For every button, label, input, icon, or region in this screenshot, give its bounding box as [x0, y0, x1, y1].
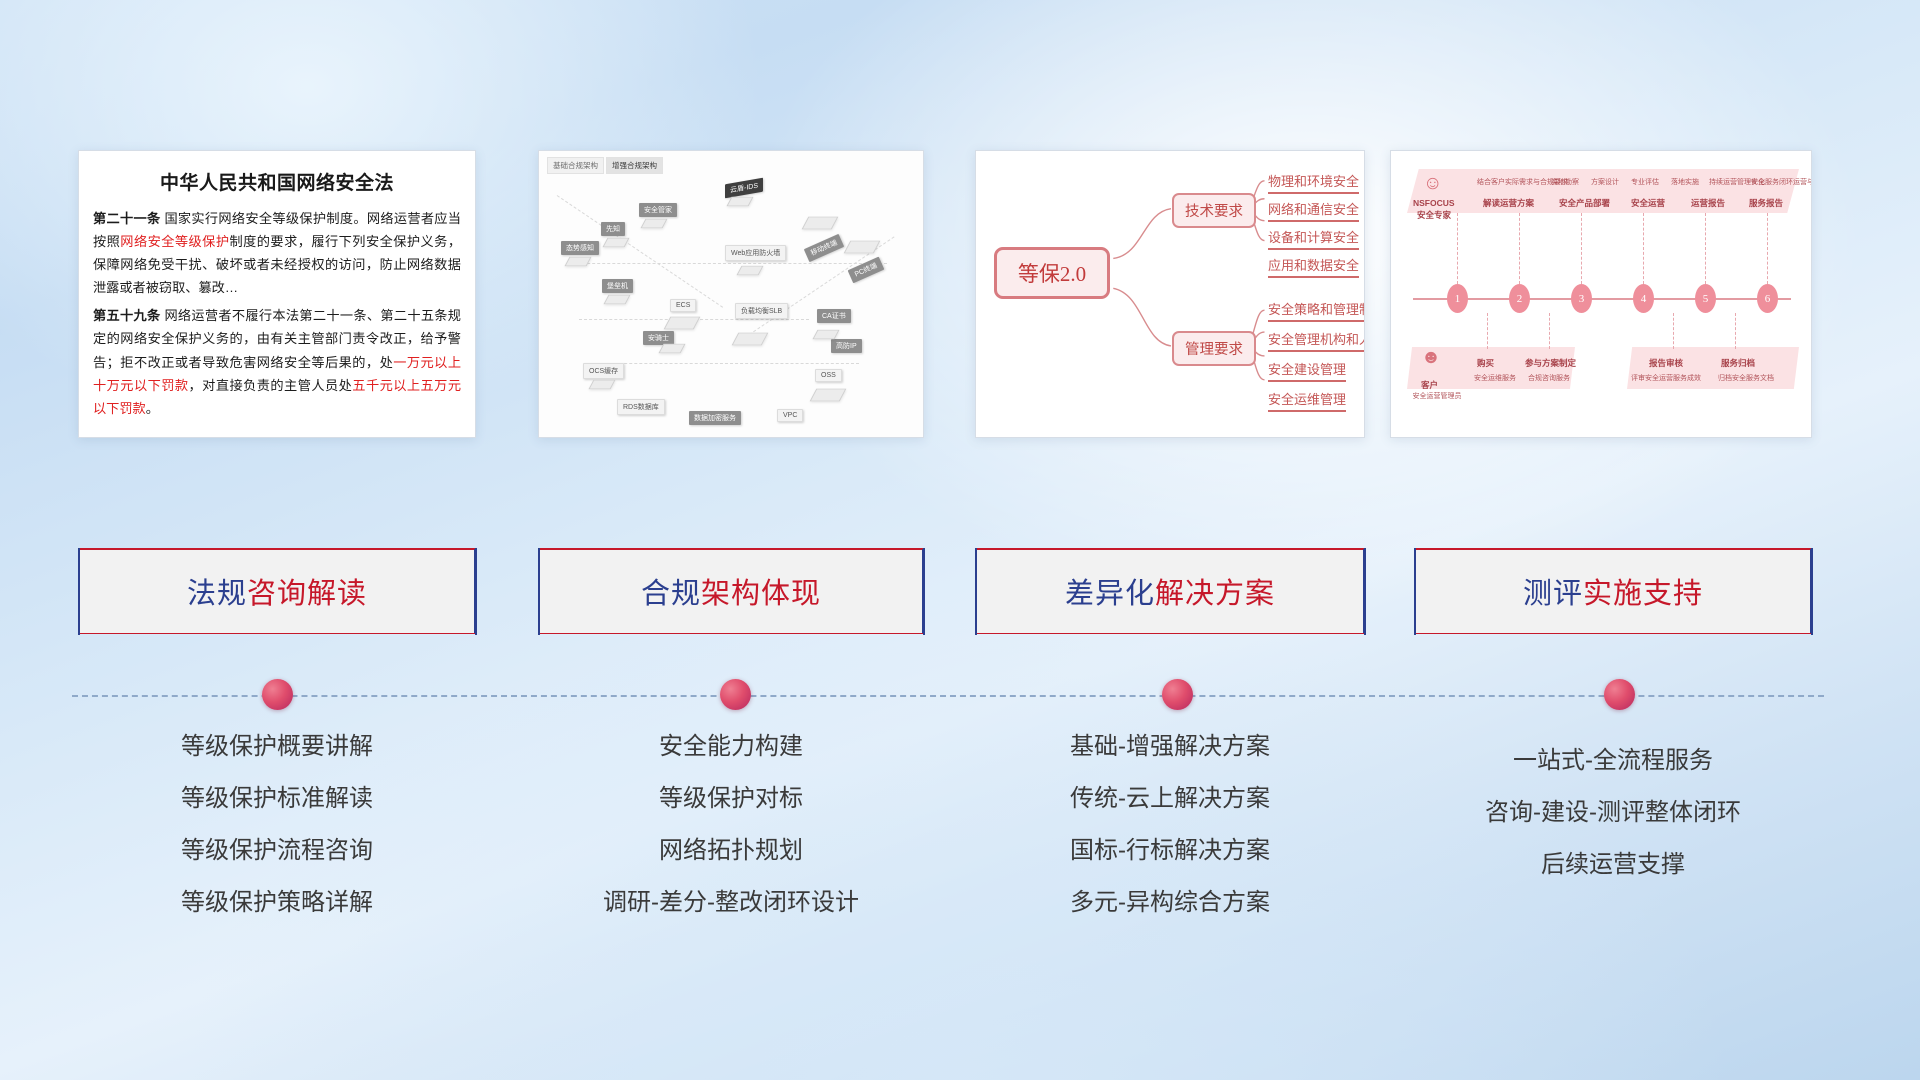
label-box-regulation-consulting[interactable]: 法规咨询解读	[78, 548, 476, 634]
timeline-dot-1[interactable]	[262, 679, 293, 710]
mindmap-leaf-physical-env: 物理和环境安全	[1268, 171, 1359, 194]
service-tag-2: 方案设计	[1591, 177, 1619, 187]
list-column-architecture: 安全能力构建 等级保护对标 网络拓扑规划 调研-差分-整改闭环设计	[538, 735, 924, 943]
arch-node-waf: Web应用防火墙	[725, 245, 786, 261]
arch-node-ocs-cache: OCS缓存	[583, 363, 624, 379]
service-report-review: 报告审核	[1649, 357, 1683, 369]
list-item: 后续运营支撑	[1414, 853, 1812, 877]
service-bottom-subtag-1: 合规咨询服务	[1525, 373, 1573, 383]
list-item: 多元-异构综合方案	[975, 891, 1365, 915]
slide-canvas: 中华人民共和国网络安全法 第二十一条 国家实行网络安全等级保护制度。网络运营者应…	[0, 0, 1920, 1080]
service-step-2: 2	[1509, 284, 1530, 313]
service-infographic: ☺ NSFOCUS 安全专家 结合客户实际需求与合规要求 实地勘察 方案设计 专…	[1391, 151, 1811, 437]
law-article-59-label: 第五十九条	[93, 308, 160, 323]
service-dash	[1705, 213, 1706, 284]
card-mindmap-dengbao[interactable]: 等保2.0 技术要求 物理和环境安全 网络和通信安全 设备和计算安全 应用和数据…	[975, 150, 1365, 438]
mindmap-leaf-app-data: 应用和数据安全	[1268, 255, 1359, 278]
list-column-solution: 基础-增强解决方案 传统-云上解决方案 国标-行标解决方案 多元-异构综合方案	[975, 735, 1365, 943]
service-dash	[1643, 213, 1644, 284]
service-dash	[1581, 213, 1582, 284]
service-tag-3: 专业评估	[1631, 177, 1659, 187]
service-tag-0: 结合客户实际需求与合规要求	[1477, 177, 1543, 187]
service-dash	[1519, 213, 1520, 284]
arch-tab-enhanced[interactable]: 增强合规架构	[606, 157, 663, 174]
brand-name: NSFOCUS	[1413, 198, 1455, 208]
arch-cube	[802, 217, 839, 229]
arch-node-situational-awareness: 态势感知	[561, 241, 599, 255]
arch-cube	[732, 333, 769, 345]
mindmap-root: 等保2.0	[994, 247, 1110, 299]
timeline-dot-4[interactable]	[1604, 679, 1635, 710]
list-item: 等级保护对标	[538, 787, 924, 811]
card-row: 中华人民共和国网络安全法 第二十一条 国家实行网络安全等级保护制度。网络运营者应…	[0, 150, 1920, 440]
arch-cube	[604, 295, 631, 304]
arch-node-ca-cert: CA证书	[817, 309, 851, 323]
service-step-5: 5	[1695, 284, 1716, 313]
service-bottom-tag-1: 参与方案制定	[1525, 357, 1576, 369]
list-column-regulation: 等级保护概要讲解 等级保护标准解读 等级保护流程咨询 等级保护策略详解	[78, 735, 476, 943]
arch-node-slb: 负载均衡SLB	[735, 303, 788, 319]
architecture-diagram: 基础合规架构 增强合规架构 云盾-IDS 安全管家 先知 态势感知 堡垒机	[539, 151, 923, 437]
arch-cube	[565, 257, 592, 266]
expert-avatar-icon: ☺	[1423, 173, 1442, 195]
label-part-red: 实施支持	[1583, 570, 1703, 612]
arch-cube	[589, 380, 616, 389]
mindmap-leaf-device-compute: 设备和计算安全	[1268, 227, 1359, 250]
service-dash	[1735, 313, 1736, 349]
brand-subtitle: 安全专家	[1417, 209, 1451, 221]
law-article-59-text-c: 。	[146, 401, 159, 416]
arch-node-data-encryption: 数据加密服务	[689, 411, 741, 425]
service-dash	[1457, 213, 1458, 284]
arch-node-cloudshield: 云盾-IDS	[725, 178, 763, 199]
customer-sub-label: 安全运营管理员	[1407, 391, 1467, 401]
service-top-label-3: 运营报告	[1691, 197, 1725, 209]
arch-cube	[810, 389, 847, 401]
card-service-timeline[interactable]: ☺ NSFOCUS 安全专家 结合客户实际需求与合规要求 实地勘察 方案设计 专…	[1390, 150, 1812, 438]
arch-guide-line	[599, 363, 859, 364]
arch-cube	[664, 317, 701, 329]
service-step-1: 1	[1447, 284, 1468, 313]
label-part-red: 咨询解读	[247, 570, 367, 612]
law-article-21-label: 第二十一条	[93, 211, 160, 226]
arch-cube	[603, 238, 630, 247]
timeline-dot-3[interactable]	[1162, 679, 1193, 710]
label-part-navy: 法规	[187, 570, 247, 612]
arch-cube	[641, 219, 668, 228]
service-tag-6: 安全服务闭环运营与安全运营支撑	[1751, 177, 1801, 187]
service-tag-1: 实地勘察	[1551, 177, 1579, 187]
law-article-21: 第二十一条 国家实行网络安全等级保护制度。网络运营者应当按照网络安全等级保护制度…	[93, 207, 461, 299]
list-item: 基础-增强解决方案	[975, 735, 1365, 759]
service-step-4: 4	[1633, 284, 1654, 313]
timeline-dot-2[interactable]	[720, 679, 751, 710]
mindmap-leaf-ops-mgmt: 安全运维管理	[1268, 389, 1346, 412]
customer-label: 客户	[1421, 379, 1438, 391]
mindmap-leaf-policy-system: 安全策略和管理制度	[1268, 299, 1365, 322]
service-top-label-0: 解读运营方案	[1483, 197, 1534, 209]
arch-node-mobile-terminal: 移动终端	[804, 234, 844, 262]
arch-node-oss: OSS	[815, 369, 842, 382]
arch-cube	[813, 330, 840, 339]
arch-node-security-butler: 安全管家	[639, 203, 677, 217]
service-bottom-subtag-0: 安全运维服务	[1471, 373, 1519, 383]
list-item: 咨询-建设-测评整体闭环	[1414, 801, 1812, 825]
arch-guide-line	[567, 263, 887, 264]
arch-node-vpc: VPC	[777, 409, 803, 422]
mindmap-leaf-network-comm: 网络和通信安全	[1268, 199, 1359, 222]
mindmap: 等保2.0 技术要求 物理和环境安全 网络和通信安全 设备和计算安全 应用和数据…	[976, 151, 1364, 437]
service-step-3: 3	[1571, 284, 1592, 313]
label-part-red: 架构体现	[701, 570, 821, 612]
arch-node-ecs: ECS	[670, 299, 696, 312]
service-top-label-4: 服务报告	[1749, 197, 1783, 209]
list-item: 等级保护标准解读	[78, 787, 476, 811]
law-title: 中华人民共和国网络安全法	[79, 168, 475, 195]
customer-avatar-icon: ☻	[1421, 347, 1441, 369]
mindmap-branch-management: 管理要求	[1172, 331, 1256, 366]
service-top-label-1: 安全产品部署	[1559, 197, 1610, 209]
service-dash	[1549, 313, 1550, 349]
list-item: 调研-差分-整改闭环设计	[538, 891, 924, 915]
service-dash	[1487, 313, 1488, 349]
arch-cube	[844, 241, 881, 253]
list-item: 等级保护流程咨询	[78, 839, 476, 863]
card-compliance-architecture[interactable]: 基础合规架构 增强合规架构 云盾-IDS 安全管家 先知 态势感知 堡垒机	[538, 150, 924, 438]
list-item: 安全能力构建	[538, 735, 924, 759]
service-step-6: 6	[1757, 284, 1778, 313]
list-item: 一站式-全流程服务	[1414, 749, 1812, 773]
label-part-red: 解决方案	[1155, 570, 1275, 612]
law-article-21-highlight: 网络安全等级保护	[120, 234, 229, 249]
service-dash	[1767, 213, 1768, 284]
list-column-assessment: 一站式-全流程服务 咨询-建设-测评整体闭环 后续运营支撑	[1414, 749, 1812, 905]
arch-cube	[727, 197, 754, 206]
law-article-59-text-b: ，对直接负责的主管人员处	[189, 378, 353, 393]
card-cybersecurity-law[interactable]: 中华人民共和国网络安全法 第二十一条 国家实行网络安全等级保护制度。网络运营者应…	[78, 150, 476, 438]
list-item: 等级保护概要讲解	[78, 735, 476, 759]
label-part-navy: 测评	[1523, 570, 1583, 612]
list-item: 等级保护策略详解	[78, 891, 476, 915]
timeline-dashed-line	[72, 695, 1824, 697]
arch-cube	[737, 266, 764, 275]
label-part-navy: 合规	[641, 570, 701, 612]
service-archive-sub: 归档安全服务文档	[1709, 373, 1783, 383]
arch-tab-basic[interactable]: 基础合规架构	[547, 157, 604, 174]
arch-node-bastion-host: 堡垒机	[602, 279, 633, 293]
law-article-59: 第五十九条 网络运营者不履行本法第二十一条、第二十五条规定的网络安全保护义务的，…	[93, 304, 461, 419]
timeline	[72, 694, 1824, 697]
list-item: 传统-云上解决方案	[975, 787, 1365, 811]
architecture-tabs[interactable]: 基础合规架构 增强合规架构	[547, 157, 663, 174]
label-box-differentiated-solution[interactable]: 差异化解决方案	[975, 548, 1365, 634]
arch-node-anti-ddos: 高防IP	[831, 339, 862, 353]
arch-node-xianzhi: 先知	[601, 222, 625, 236]
label-box-compliance-architecture[interactable]: 合规架构体现	[538, 548, 924, 634]
law-body: 第二十一条 国家实行网络安全等级保护制度。网络运营者应当按照网络安全等级保护制度…	[79, 207, 475, 420]
service-report-review-sub: 评审安全运营服务成效	[1629, 373, 1703, 383]
mindmap-branch-technical: 技术要求	[1172, 193, 1256, 228]
service-axis	[1413, 298, 1791, 300]
mindmap-leaf-org-personnel: 安全管理机构和人员	[1268, 329, 1365, 352]
label-part-navy: 差异化	[1065, 570, 1155, 612]
service-bottom-tag-0: 购买	[1477, 357, 1494, 369]
arch-cube	[659, 344, 686, 353]
service-tag-4: 落地实施	[1671, 177, 1699, 187]
list-item: 网络拓扑规划	[538, 839, 924, 863]
service-dash	[1673, 313, 1674, 349]
label-box-assessment-support[interactable]: 测评实施支持	[1414, 548, 1812, 634]
list-item: 国标-行标解决方案	[975, 839, 1365, 863]
service-top-label-2: 安全运营	[1631, 197, 1665, 209]
arch-node-pc-terminal: PC终端	[848, 257, 885, 284]
mindmap-leaf-construction-mgmt: 安全建设管理	[1268, 359, 1346, 382]
arch-node-rds: RDS数据库	[617, 399, 665, 415]
service-archive: 服务归档	[1721, 357, 1755, 369]
label-row: 法规咨询解读 合规架构体现 差异化解决方案 测评实施支持	[0, 548, 1920, 636]
